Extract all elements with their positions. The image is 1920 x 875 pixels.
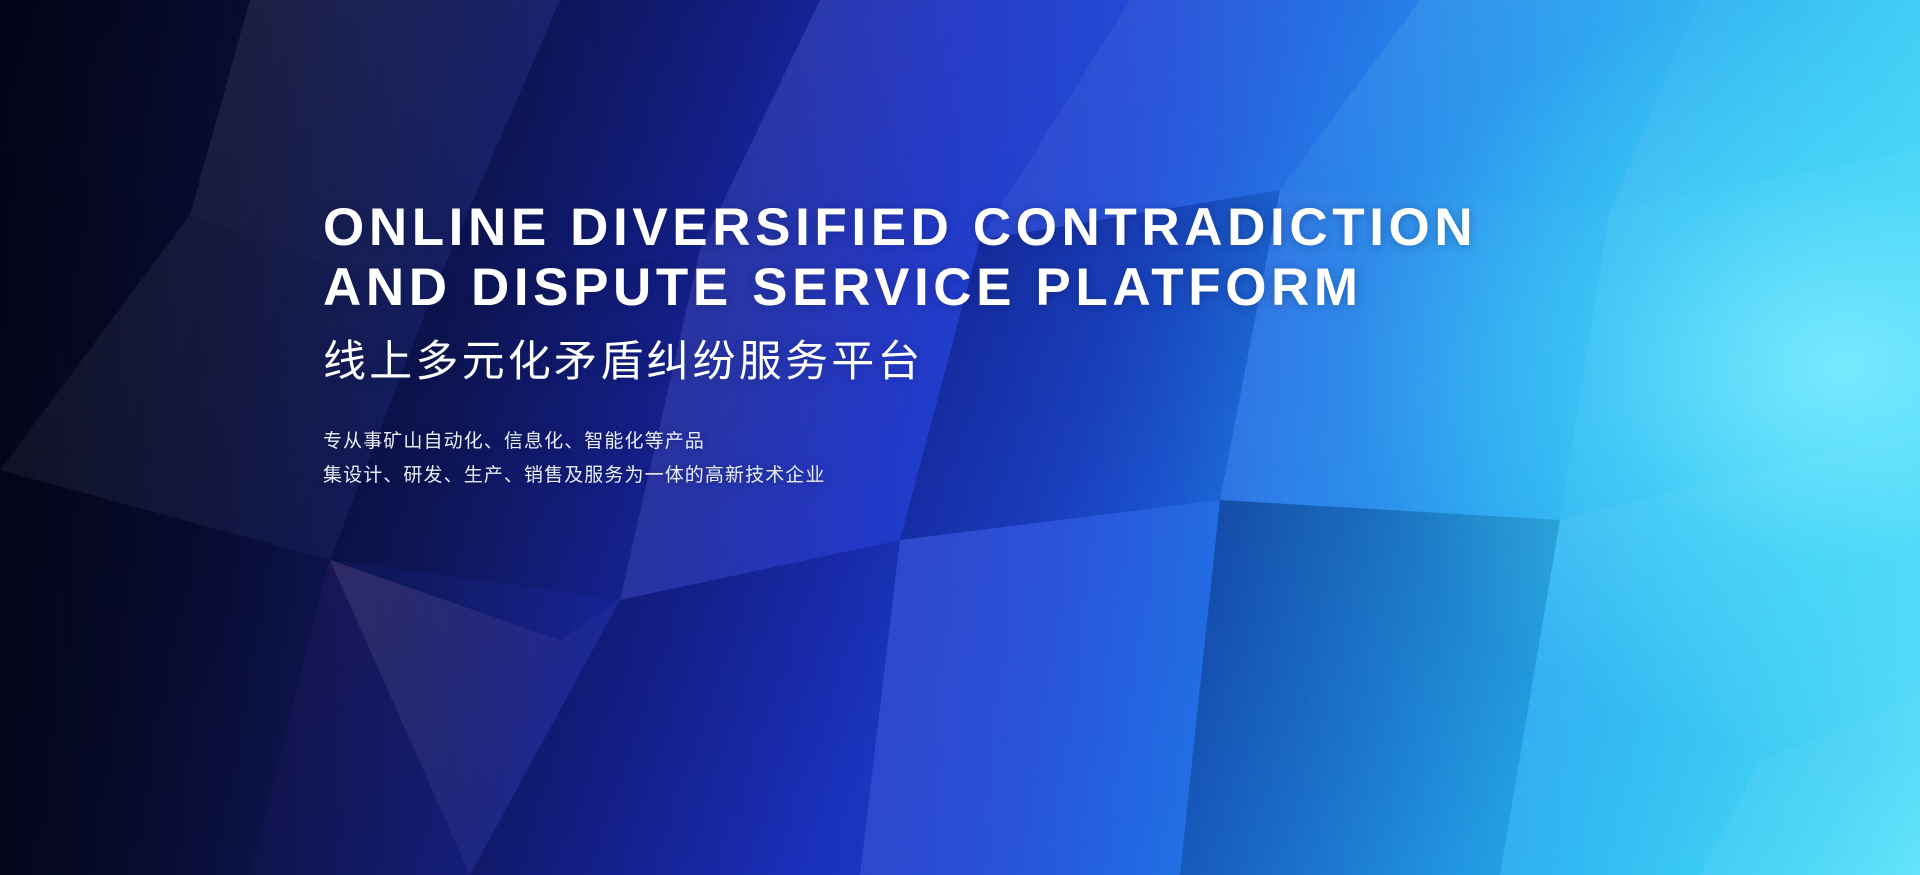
page-title-line-2: AND DISPUTE SERVICE PLATFORM xyxy=(323,258,1477,318)
page-title-line-1: ONLINE DIVERSIFIED CONTRADICTION xyxy=(323,198,1477,258)
description-line-1: 专从事矿山自动化、信息化、智能化等产品 xyxy=(323,425,1477,459)
hero-banner: ONLINE DIVERSIFIED CONTRADICTION AND DIS… xyxy=(0,0,1920,875)
description-list: 专从事矿山自动化、信息化、智能化等产品 集设计、研发、生产、销售及服务为一体的高… xyxy=(323,425,1477,493)
page-title: ONLINE DIVERSIFIED CONTRADICTION AND DIS… xyxy=(323,198,1477,318)
page-subtitle: 线上多元化矛盾纠纷服务平台 xyxy=(323,336,1477,388)
description-line-2: 集设计、研发、生产、销售及服务为一体的高新技术企业 xyxy=(323,459,1477,493)
hero-content: ONLINE DIVERSIFIED CONTRADICTION AND DIS… xyxy=(323,198,1477,493)
